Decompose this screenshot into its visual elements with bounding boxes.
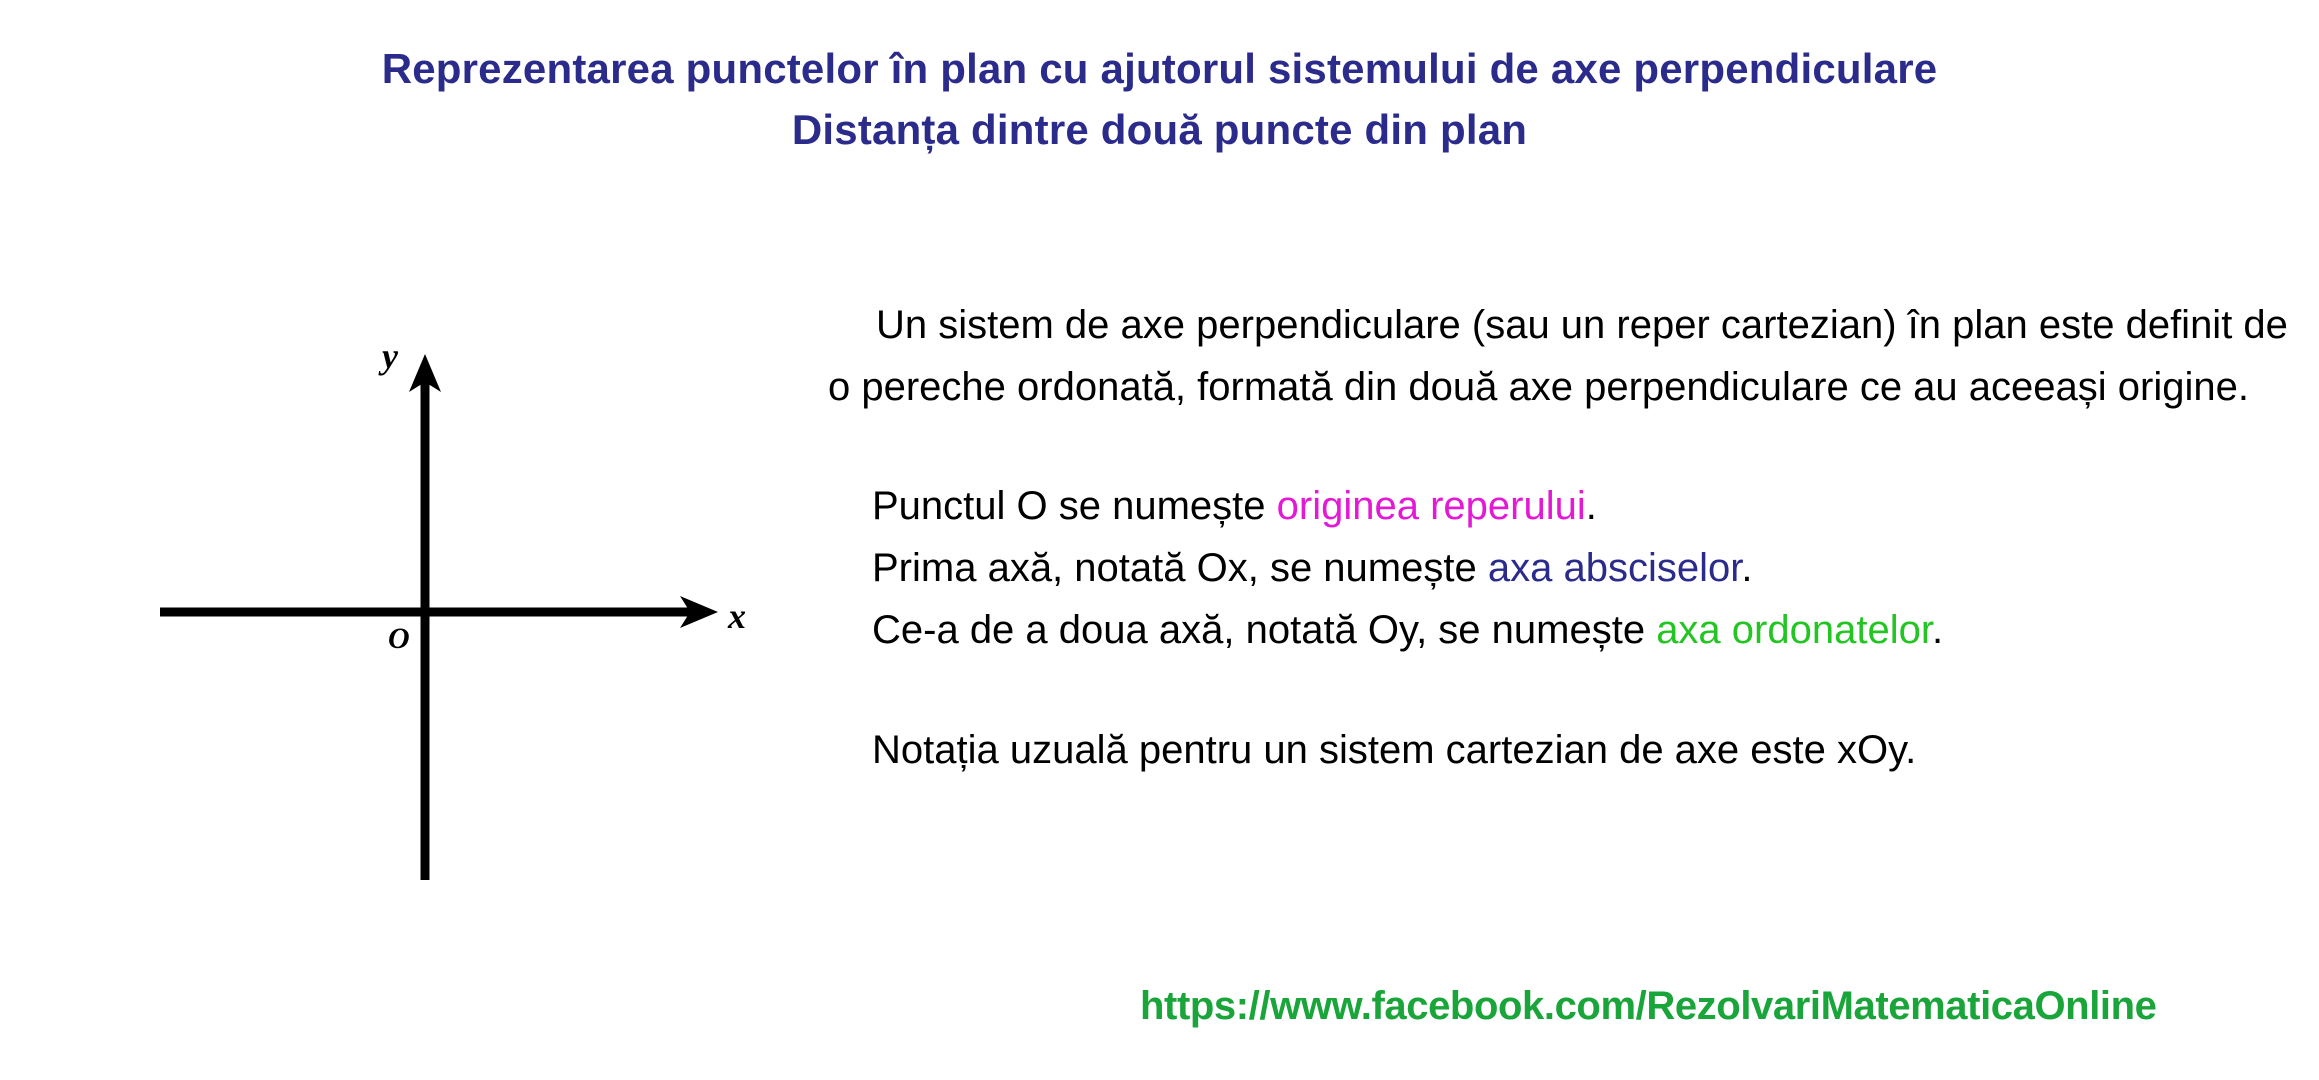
page-title: Reprezentarea punctelor în plan cu ajuto…	[0, 38, 2319, 160]
definition-suffix-ordinate: .	[1932, 608, 1943, 652]
definition-prefix-origin: Punctul O se numește	[872, 484, 1277, 528]
notation-block: Notația uzuală pentru un sistem cartezia…	[828, 661, 2288, 781]
definition-line-origin: Punctul O se numește originea reperului.	[872, 475, 2288, 537]
term-originea-reperului: originea reperului	[1277, 484, 1586, 528]
x-axis-label: x	[727, 596, 746, 636]
definition-prefix-ordinate: Ce-a de a doua axă, notată Oy, se numeșt…	[872, 608, 1656, 652]
origin-label: O	[388, 622, 410, 655]
term-axa-absciselor: axa absciselor	[1488, 546, 1741, 590]
definitions-block: Punctul O se numește originea reperului.…	[828, 418, 2288, 661]
title-line-1: Reprezentarea punctelor în plan cu ajuto…	[0, 38, 2319, 99]
cartesian-axes-figure: y x O	[140, 320, 800, 900]
term-axa-ordonatelor: axa ordonatelor	[1656, 608, 1932, 652]
definition-line-abscissa: Prima axă, notată Ox, se numește axa abs…	[872, 537, 2288, 599]
definition-suffix-abscissa: .	[1741, 546, 1752, 590]
definition-line-ordinate: Ce-a de a doua axă, notată Oy, se numeșt…	[872, 599, 2288, 661]
lesson-body: Un sistem de axe perpendiculare (sau un …	[828, 294, 2288, 781]
definition-prefix-abscissa: Prima axă, notată Ox, se numește	[872, 546, 1488, 590]
intro-paragraph: Un sistem de axe perpendiculare (sau un …	[828, 294, 2288, 418]
definition-suffix-origin: .	[1586, 484, 1597, 528]
y-axis-label: y	[378, 336, 399, 376]
title-line-2: Distanța dintre două puncte din plan	[0, 99, 2319, 160]
facebook-page-link[interactable]: https://www.facebook.com/RezolvariMatema…	[1140, 984, 2157, 1029]
notation-line: Notația uzuală pentru un sistem cartezia…	[872, 719, 2288, 781]
